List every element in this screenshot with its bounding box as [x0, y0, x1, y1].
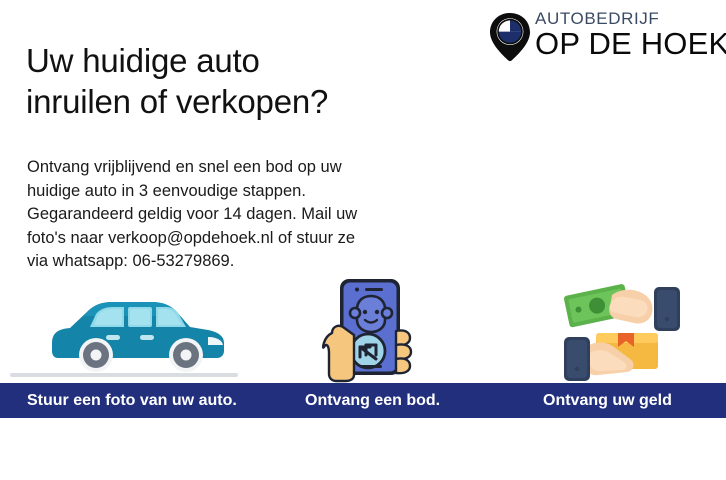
body-paragraph: Ontvang vrijblijvend en snel een bod op … [27, 156, 357, 274]
map-pin-icon [489, 12, 531, 62]
car-icon [40, 275, 240, 383]
logo-wordmark: AUTOBEDRIJF OP DE HOEK [535, 10, 726, 60]
step-1-caption: Stuur een foto van uw auto. [27, 391, 237, 410]
body-line-1: Ontvang vrijblijvend en snel een bod op … [27, 156, 357, 180]
body-line-2: huidige auto in 3 eenvoudige stappen. [27, 180, 357, 204]
company-logo: AUTOBEDRIJF OP DE HOEK [489, 10, 721, 62]
hand-holding-phone-icon [310, 275, 470, 383]
steps-caption-bar: Stuur een foto van uw auto. Ontvang een … [0, 383, 726, 418]
body-line-3: Gegarandeerd geldig voor 14 dagen. Mail … [27, 203, 357, 227]
step-2-caption: Ontvang een bod. [305, 391, 440, 410]
promo-banner: AUTOBEDRIJF OP DE HOEK Uw huidige auto i… [0, 0, 726, 480]
headline: Uw huidige auto inruilen of verkopen? [26, 40, 328, 122]
hand-money-exchange-icon [550, 275, 710, 383]
step-icons-row [0, 275, 726, 383]
step-3-icon-container [550, 275, 710, 383]
logo-line-opdehoek: OP DE HOEK [535, 27, 726, 60]
headline-line-1: Uw huidige auto [26, 40, 328, 81]
step-3-caption: Ontvang uw geld [543, 391, 672, 410]
step-1-icon-container [40, 275, 240, 383]
step-2-icon-container [310, 275, 470, 383]
body-line-4: foto's naar verkoop@opdehoek.nl of stuur… [27, 227, 357, 251]
ground-line [10, 373, 238, 377]
body-line-5: via whatsapp: 06-53279869. [27, 250, 357, 274]
headline-line-2: inruilen of verkopen? [26, 81, 328, 122]
